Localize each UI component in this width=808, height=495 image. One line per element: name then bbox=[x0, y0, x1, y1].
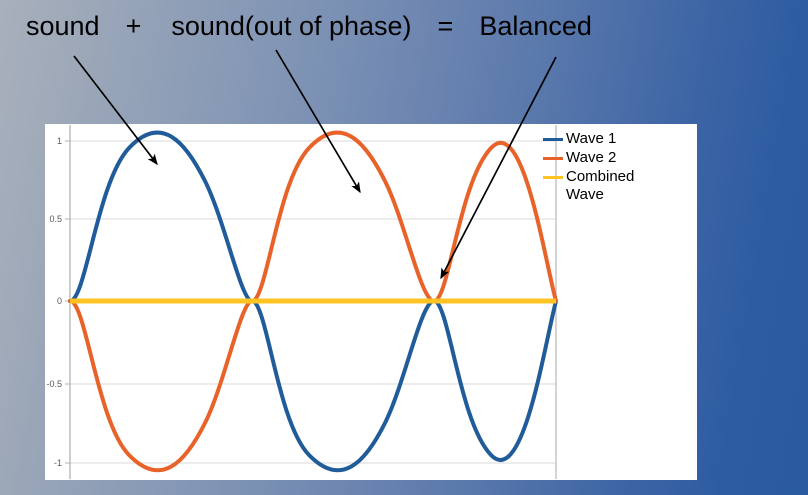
title-term-sound-out-of-phase: sound(out of phase) bbox=[171, 11, 411, 41]
legend-item-wave-1[interactable]: Wave 1 bbox=[543, 130, 648, 148]
title-term-sound: sound bbox=[26, 11, 100, 41]
title-operator-equals: = bbox=[438, 11, 454, 41]
legend-label-wave-1: Wave 1 bbox=[566, 130, 616, 148]
title-term-balanced: Balanced bbox=[479, 11, 592, 41]
ytick-label-neg0-5: -0.5 bbox=[46, 379, 62, 389]
chart-legend: Wave 1 Wave 2 Combined Wave bbox=[543, 130, 648, 205]
legend-swatch-icon-wave-2 bbox=[543, 157, 563, 160]
legend-item-combined-wave[interactable]: Combined Wave bbox=[543, 168, 648, 204]
ytick-label-1: 1 bbox=[57, 136, 62, 146]
legend-label-combined-wave: Combined Wave bbox=[566, 168, 648, 204]
legend-swatch-icon-combined-wave bbox=[543, 176, 563, 179]
title-equation: sound + sound(out of phase) = Balanced bbox=[26, 6, 801, 46]
legend-label-wave-2: Wave 2 bbox=[566, 149, 616, 167]
title-operator-plus: + bbox=[126, 11, 142, 41]
ytick-label-0: 0 bbox=[57, 296, 62, 306]
slide-canvas: sound + sound(out of phase) = Balanced bbox=[0, 0, 808, 495]
legend-item-wave-2[interactable]: Wave 2 bbox=[543, 149, 648, 167]
ytick-label-0-5: 0.5 bbox=[49, 214, 62, 224]
legend-swatch-icon-wave-1 bbox=[543, 138, 563, 141]
ytick-label-neg1: -1 bbox=[54, 458, 62, 468]
